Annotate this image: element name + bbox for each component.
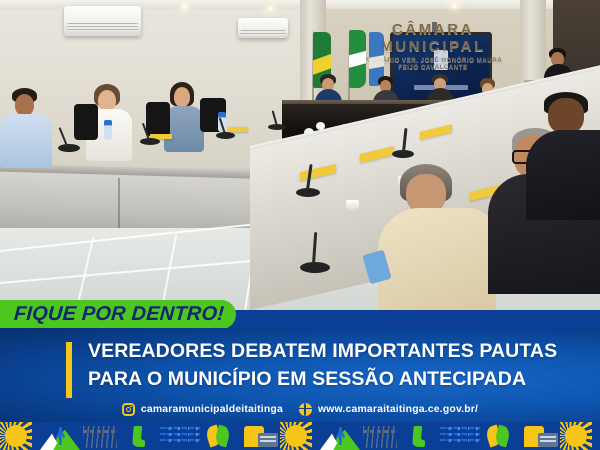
headline-line-2: PARA O MUNICÍPIO EM SESSÃO ANTECIPADA [88,366,566,394]
mountain-hiker-icon [320,422,360,450]
footer-links: camaramunicipaldeitaitinga www.camaraita… [0,396,600,422]
wall-sign-line1: CÂMARA MUNICIPAL [338,22,528,56]
chair [146,102,170,136]
microphone [140,138,160,145]
mountain-hiker-icon [40,422,80,450]
boot-icon [120,422,160,450]
globe-icon [299,403,312,416]
crops-icon [80,422,120,450]
chair [74,104,98,140]
ceiling-light [452,3,457,8]
ceara-flag-icon [349,30,366,88]
building-icon [240,422,280,450]
website-link[interactable]: www.camaraitaitinga.ce.gov.br/ [299,403,478,416]
decorative-icon-strip [0,422,600,450]
eyebrow-banner: FIQUE POR DENTRO! [0,300,236,329]
leaf-icon [480,422,520,450]
headline-accent-bar [66,342,72,398]
sun-icon [560,422,600,450]
eyebrow-text: FIQUE POR DENTRO! [0,303,225,326]
sun-icon [280,422,320,450]
session-photo: CÂMARA MUNICIPAL PLENÁRIO VER. JOSÉ HONÓ… [0,0,600,310]
waves-icon [160,422,200,450]
ceiling-light [268,6,273,11]
ceiling-light [182,4,187,9]
leaf-icon [200,422,240,450]
instagram-icon [122,403,135,416]
cup [346,200,359,211]
sun-icon [0,422,40,450]
instagram-link[interactable]: camaramunicipaldeitaitinga [122,403,283,416]
notepad [228,127,248,132]
wall-sign: CÂMARA MUNICIPAL PLENÁRIO VER. JOSÉ HONÓ… [338,22,528,71]
building-icon [520,422,560,450]
headline: VEREADORES DEBATEM IMPORTANTES PAUTAS PA… [66,338,566,393]
wall-sign-line3: FEIJÓ CAVALCANTE [338,65,528,72]
air-conditioner-icon [238,18,288,38]
water-bottle [104,120,112,140]
instagram-handle: camaramunicipaldeitaitinga [141,404,283,415]
headline-line-1: VEREADORES DEBATEM IMPORTANTES PAUTAS [88,338,566,366]
crops-icon [360,422,400,450]
air-conditioner-icon [64,6,141,36]
microphone [58,144,80,152]
waves-icon [440,422,480,450]
microphone [300,262,330,273]
poster: CÂMARA MUNICIPAL PLENÁRIO VER. JOSÉ HONÓ… [0,0,600,450]
boot-icon [400,422,440,450]
website-url: www.camaraitaitinga.ce.gov.br/ [318,404,478,415]
